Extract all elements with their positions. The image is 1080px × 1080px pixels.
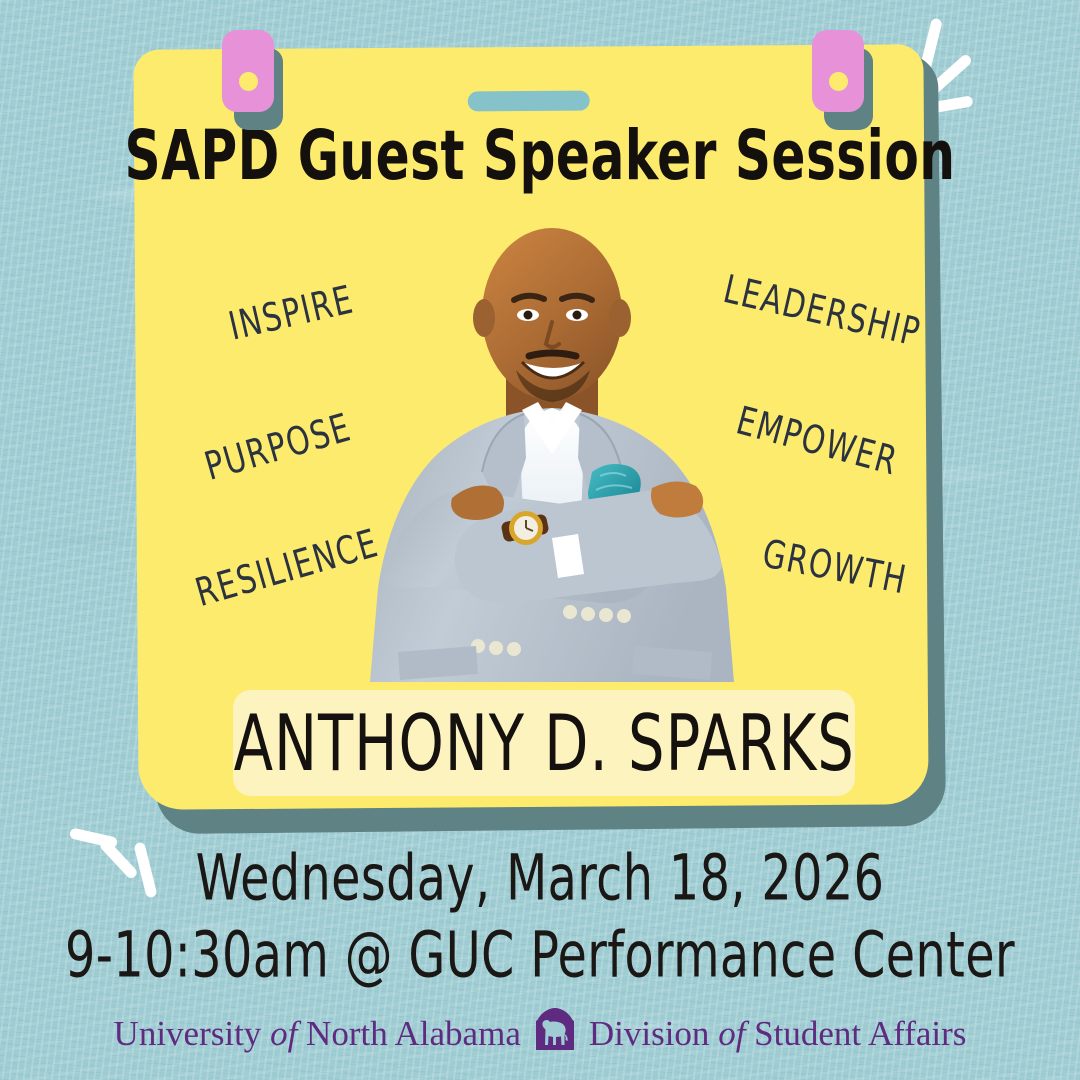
university-name: University of North Alabama (114, 1014, 521, 1054)
speaker-name-banner: ANTHONY D. SPARKS (233, 690, 855, 796)
university-name-pre: University (114, 1014, 262, 1053)
clip-body (812, 30, 864, 112)
division-name-pre: Division (589, 1014, 710, 1053)
event-details: Wednesday, March 18, 2026 9-10:30am @ GU… (0, 848, 1080, 986)
poster-canvas: SAPD Guest Speaker Session INSPIRE PURPO… (0, 0, 1080, 1080)
division-name-of: of (718, 1014, 745, 1053)
clip-body (222, 30, 274, 112)
card-slot-icon (468, 91, 590, 112)
event-time-location: 9-10:30am @ GUC Performance Center (0, 919, 1080, 992)
speaker-name: ANTHONY D. SPARKS (233, 698, 854, 789)
clip-hole-icon (239, 72, 258, 91)
event-date: Wednesday, March 18, 2026 (0, 842, 1080, 915)
university-name-of: of (270, 1014, 297, 1053)
clip-hole-icon (829, 72, 848, 91)
university-name-post: North Alabama (306, 1014, 521, 1053)
footer-branding: University of North Alabama Division of … (0, 1007, 1080, 1060)
division-name-post: Student Affairs (754, 1014, 966, 1053)
lion-shield-logo (534, 1007, 576, 1060)
speaker-portrait-photo (356, 222, 748, 702)
page-title: SAPD Guest Speaker Session (38, 116, 1042, 197)
division-name: Division of Student Affairs (589, 1014, 967, 1054)
